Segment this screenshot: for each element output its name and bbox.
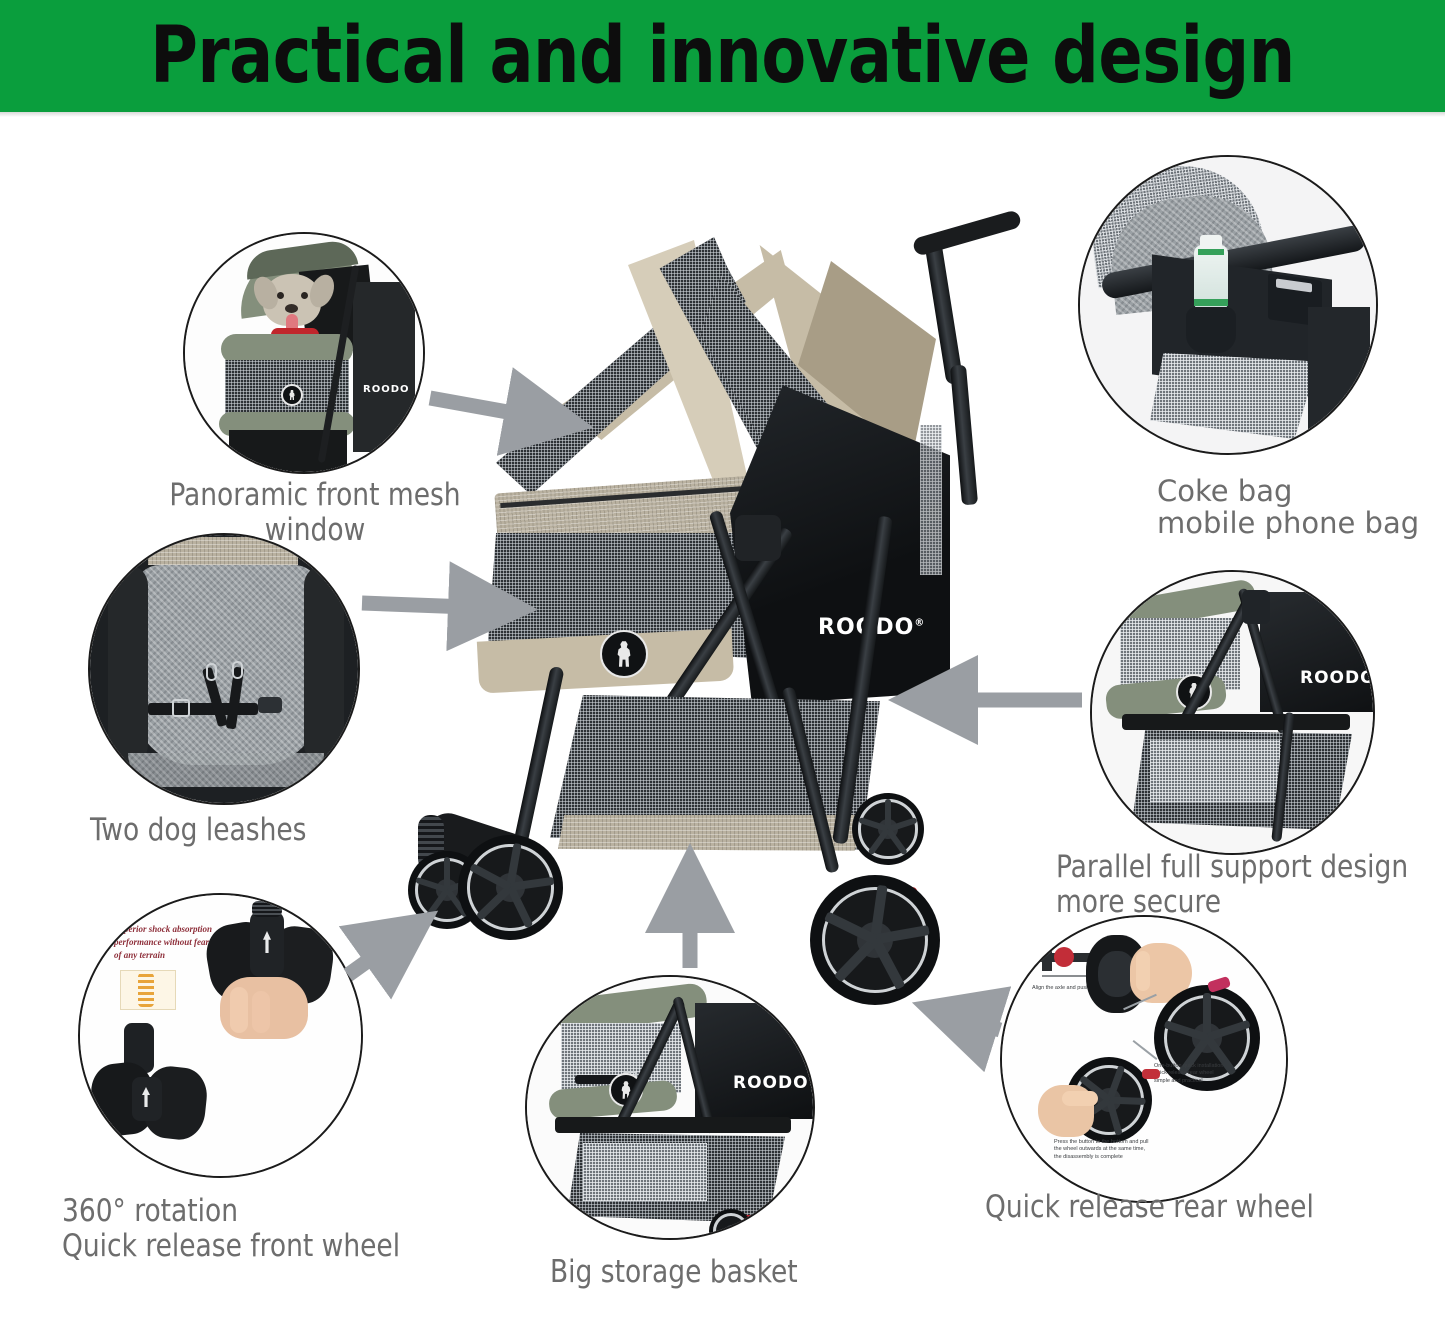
rw-photo-finger-top xyxy=(1136,951,1150,991)
leash-photo-seat-pad xyxy=(134,565,320,765)
leash-buckle xyxy=(172,699,190,717)
frame-hinge xyxy=(735,515,781,561)
rw-photo-release-button xyxy=(1054,947,1074,967)
photo-dog-eye-right xyxy=(301,292,308,299)
rw-caption-install: One-button quick installation quick rele… xyxy=(1154,1063,1264,1085)
fw-photo-spring xyxy=(252,901,282,917)
dog-logo-badge xyxy=(600,630,648,678)
leash-strap-horizontal xyxy=(148,703,258,715)
inset-panoramic-window: ROODO xyxy=(183,232,425,474)
sb-photo-basket-panel xyxy=(583,1143,707,1201)
dog-logo-icon xyxy=(613,641,636,667)
photo-dog-nose xyxy=(285,304,298,313)
handle-grip xyxy=(912,209,1023,257)
inset-dog-leashes xyxy=(88,533,360,805)
leash-anchor xyxy=(258,697,282,713)
label-dog-leashes: Two dog leashes xyxy=(90,813,306,848)
rw-photo-thumb xyxy=(1062,1091,1098,1106)
inset-storage-basket: ROODO® xyxy=(525,975,815,1240)
leash-clip-2 xyxy=(232,661,243,679)
leash-photo-footwell xyxy=(128,753,324,787)
inset-parallel-support: ROODO® xyxy=(1090,570,1375,855)
label-storage-basket: Big storage basket xyxy=(550,1255,798,1290)
page-title: Practical and innovative design xyxy=(150,17,1295,95)
sb-photo-roodo-wordmark: ROODO® xyxy=(733,1073,813,1093)
fw-photo-finger-2 xyxy=(252,991,270,1033)
inset-coke-bag xyxy=(1078,155,1378,455)
rear-wheel-near xyxy=(810,875,940,1005)
leash-clip-1 xyxy=(206,663,217,681)
ps-photo-roodo-wordmark: ROODO® xyxy=(1300,668,1373,688)
cb-photo-bottle-label-bottom xyxy=(1194,299,1228,306)
rw-photo-dim-line xyxy=(1042,975,1090,977)
sb-photo-crossbar xyxy=(555,1117,791,1133)
banner-shadow xyxy=(0,112,1445,117)
front-wheel-outer xyxy=(458,835,563,940)
handle-lower xyxy=(950,365,978,506)
photo-body-side xyxy=(353,282,415,452)
photo-dog-eye-left xyxy=(277,292,284,299)
sb-photo-body xyxy=(695,1003,813,1119)
photo-roodo-wordmark: ROODO xyxy=(363,384,410,395)
infographic-page: Practical and innovative design ROODO® xyxy=(0,0,1445,1344)
label-coke-bag: Coke bag mobile phone bag xyxy=(1157,475,1419,540)
cb-photo-cup-holder xyxy=(1186,307,1236,353)
leash-photo-canopy-edge xyxy=(148,537,298,565)
rw-caption-remove: Press the button to the bottom and pull … xyxy=(1054,1139,1176,1161)
main-product-photo: ROODO® xyxy=(400,215,1020,1085)
label-front-wheel: 360° rotation Quick release front wheel xyxy=(62,1194,400,1263)
label-parallel-support: Parallel full support design more secure xyxy=(1056,850,1408,919)
leash-photo-side-left xyxy=(108,565,148,765)
ps-photo-crossbar xyxy=(1122,714,1350,730)
ps-photo-basket-panel xyxy=(1150,740,1280,802)
inset-front-wheel: Superior shock absorption performance wi… xyxy=(78,893,363,1178)
cb-photo-rear-panel xyxy=(1308,307,1370,437)
leash-photo-side-right xyxy=(304,565,344,765)
fw-photo-finger-1 xyxy=(230,987,248,1033)
rear-wheel-far xyxy=(852,793,924,865)
header-banner: Practical and innovative design xyxy=(0,0,1445,112)
ps-photo-joint xyxy=(1242,590,1270,624)
body-side-vent xyxy=(920,425,942,575)
cb-photo-bottle-label-top xyxy=(1198,249,1224,255)
inset-rear-wheel: Align the axle and push it all the way O… xyxy=(1000,915,1288,1203)
rw-photo-lever-removed xyxy=(1142,1069,1160,1079)
label-rear-wheel: Quick release rear wheel xyxy=(985,1190,1314,1225)
spring-coil-icon xyxy=(138,973,154,1007)
photo-logo-badge xyxy=(281,384,303,406)
rw-photo-axle-post xyxy=(1042,945,1052,971)
